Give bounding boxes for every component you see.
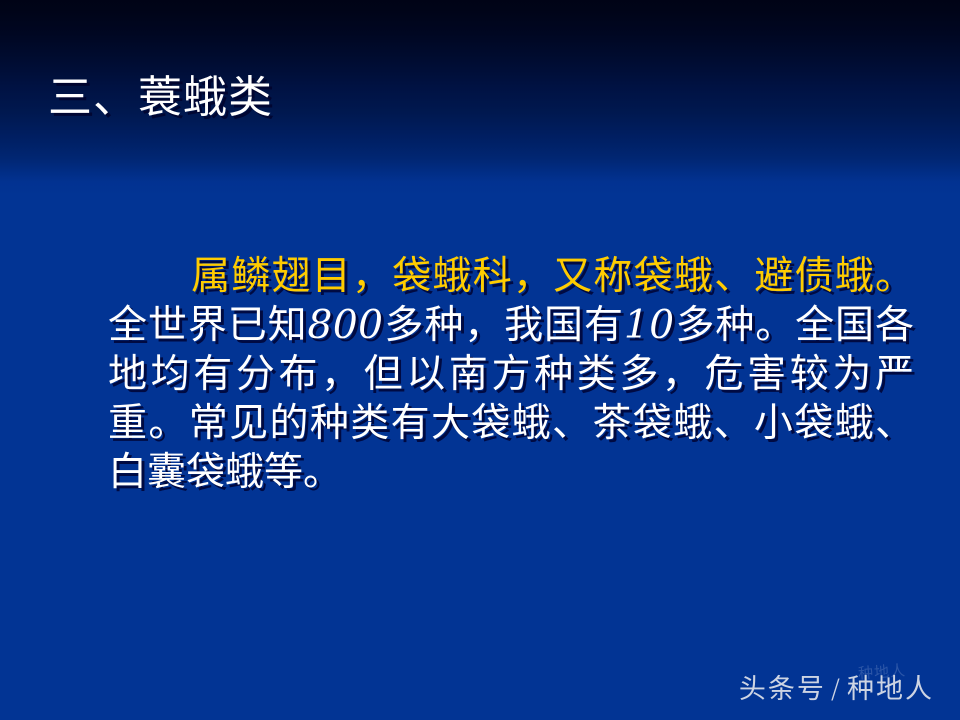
body-paragraph: 属鳞翅目，袋蛾科，又称袋蛾、避债蛾。全世界已知800多种，我国有10多种。全国各… [108,252,914,497]
body-number-10: 10 [624,303,675,348]
watermark-author: 种地人 [847,674,934,705]
body-segment-1: 全世界已知 [108,303,308,348]
watermark-platform-label: 头条号 [739,674,826,705]
watermark-separator: / [831,674,842,705]
page-title: 三、蓑蛾类 [48,72,273,125]
slide-canvas: 三、蓑蛾类 属鳞翅目，袋蛾科，又称袋蛾、避债蛾。全世界已知800多种，我国有10… [0,0,960,720]
watermark: 头条号/种地人 [739,667,934,706]
highlight-text: 属鳞翅目，袋蛾科，又称袋蛾、避债蛾。 [190,254,914,299]
body-segment-2: 多种，我国有 [384,303,624,348]
body-number-800: 800 [308,303,384,348]
